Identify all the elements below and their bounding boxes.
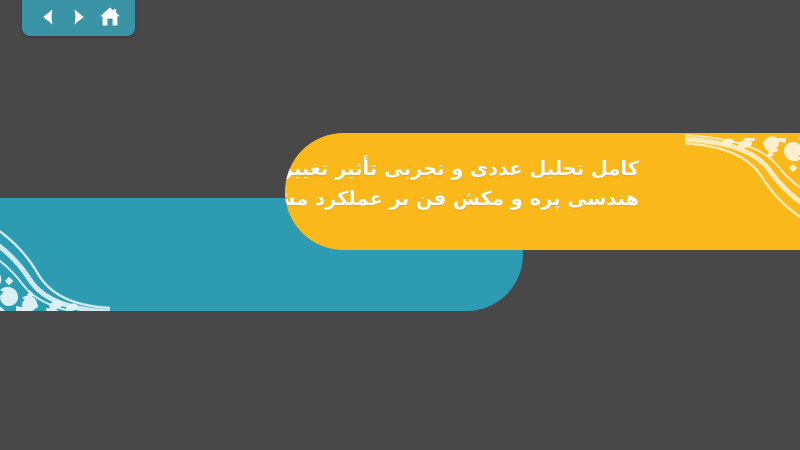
back-arrow-icon xyxy=(38,7,58,27)
title-line-1: کامل تحلیل عددی و تجربی تأثیر تغییرات xyxy=(309,154,639,184)
arabesque-ornament xyxy=(685,133,800,243)
page-title: کامل تحلیل عددی و تجربی تأثیر تغییرات هن… xyxy=(309,154,639,214)
forward-button[interactable] xyxy=(66,5,92,29)
back-button[interactable] xyxy=(35,5,61,29)
slide-canvas: کامل تحلیل عددی و تجربی تأثیر تغییرات هن… xyxy=(0,0,800,450)
home-icon xyxy=(99,6,121,28)
navigation-bar xyxy=(22,0,135,36)
forward-arrow-icon xyxy=(69,7,89,27)
title-banner: کامل تحلیل عددی و تجربی تأثیر تغییرات هن… xyxy=(285,133,800,250)
home-button[interactable] xyxy=(97,5,123,29)
arabesque-ornament xyxy=(0,206,110,311)
title-line-2: هندسی پره و مکش فن بر عملکرد مشعل xyxy=(309,184,639,214)
